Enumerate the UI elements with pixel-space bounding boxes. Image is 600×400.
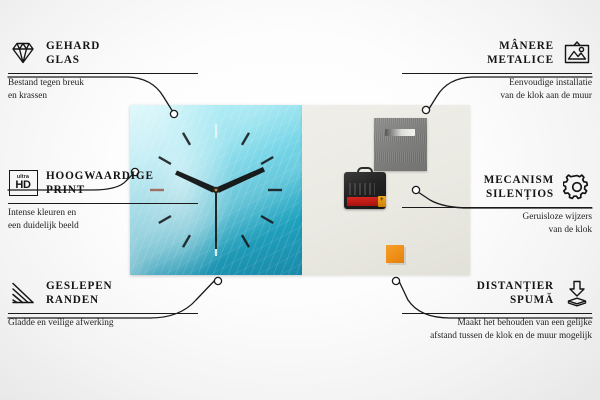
feature-title: DISTANȚIER SPUMĂ (477, 279, 554, 308)
feature-rule (8, 313, 198, 314)
gear-icon (562, 172, 592, 202)
feature-rule (8, 203, 198, 204)
feature-gehard-glas[interactable]: GEHARD GLAS Bestand tegen breuk en krass… (8, 36, 198, 103)
battery-positive-cap: + (378, 196, 386, 207)
feature-title: MECANISM SILENȚIOS (484, 173, 554, 202)
hanger-plate (374, 118, 427, 171)
feature-title: MÂNERE METALICE (487, 39, 554, 68)
feature-header: MÂNERE METALICE (402, 36, 592, 70)
feature-description: Gladde en veilige afwerking (8, 317, 198, 330)
clock-mechanism: + (344, 167, 386, 209)
mechanism-vents (349, 183, 375, 195)
feature-header: DISTANȚIER SPUMĂ (402, 276, 592, 310)
feature-distantier-spuma[interactable]: DISTANȚIER SPUMĂ Maakt het behouden van … (402, 276, 592, 343)
hanger-slot (385, 129, 415, 136)
feature-mecanism-silentios[interactable]: MECANISM SILENȚIOS Geruisloze wijzers va… (402, 170, 592, 237)
minute-hand (216, 167, 265, 193)
arrow-down-layers-icon (562, 278, 592, 308)
feature-description: Eenvoudige installatie van de klok aan d… (402, 77, 592, 103)
feature-rule (402, 313, 592, 314)
feature-header: ultra HD HOOGWAARDIGE PRINT (8, 166, 198, 200)
ultra-hd-icon-large-text: HD (15, 180, 30, 191)
foam-spacer (386, 245, 404, 263)
feature-description: Maakt het behouden van een gelijke afsta… (402, 317, 592, 343)
feature-title: GEHARD GLAS (46, 39, 100, 68)
feature-rule (8, 73, 198, 74)
connector-dot-spacer (392, 277, 399, 284)
battery-plus-sign: + (380, 198, 384, 202)
feature-rule (402, 207, 592, 208)
feature-title: GESLEPEN RANDEN (46, 279, 113, 308)
feature-title: HOOGWAARDIGE PRINT (46, 169, 154, 198)
feature-description: Geruisloze wijzers van de klok (402, 211, 592, 237)
infographic-canvas: + (0, 0, 600, 400)
second-hand (215, 190, 217, 249)
ultra-hd-icon: ultra HD (8, 168, 38, 198)
feature-description: Bestand tegen breuk en krassen (8, 77, 198, 103)
feature-manere-metalice[interactable]: MÂNERE METALICE Eenvoudige installatie v… (402, 36, 592, 103)
feature-header: MECANISM SILENȚIOS (402, 170, 592, 204)
feature-hoogwaardige-print[interactable]: ultra HD HOOGWAARDIGE PRINT Intense kleu… (8, 166, 198, 233)
mechanism-body: + (344, 172, 386, 209)
feature-header: GEHARD GLAS (8, 36, 198, 70)
feature-header: GESLEPEN RANDEN (8, 276, 198, 310)
connector-dot-edges (214, 277, 221, 284)
feature-description: Intense kleuren en een duidelijk beeld (8, 207, 198, 233)
feature-rule (402, 73, 592, 74)
diamond-icon (8, 38, 38, 68)
beveled-edge-icon (8, 278, 38, 308)
feature-geslepen-randen[interactable]: GESLEPEN RANDEN Gladde en veilige afwerk… (8, 276, 198, 330)
framed-picture-icon (562, 38, 592, 68)
